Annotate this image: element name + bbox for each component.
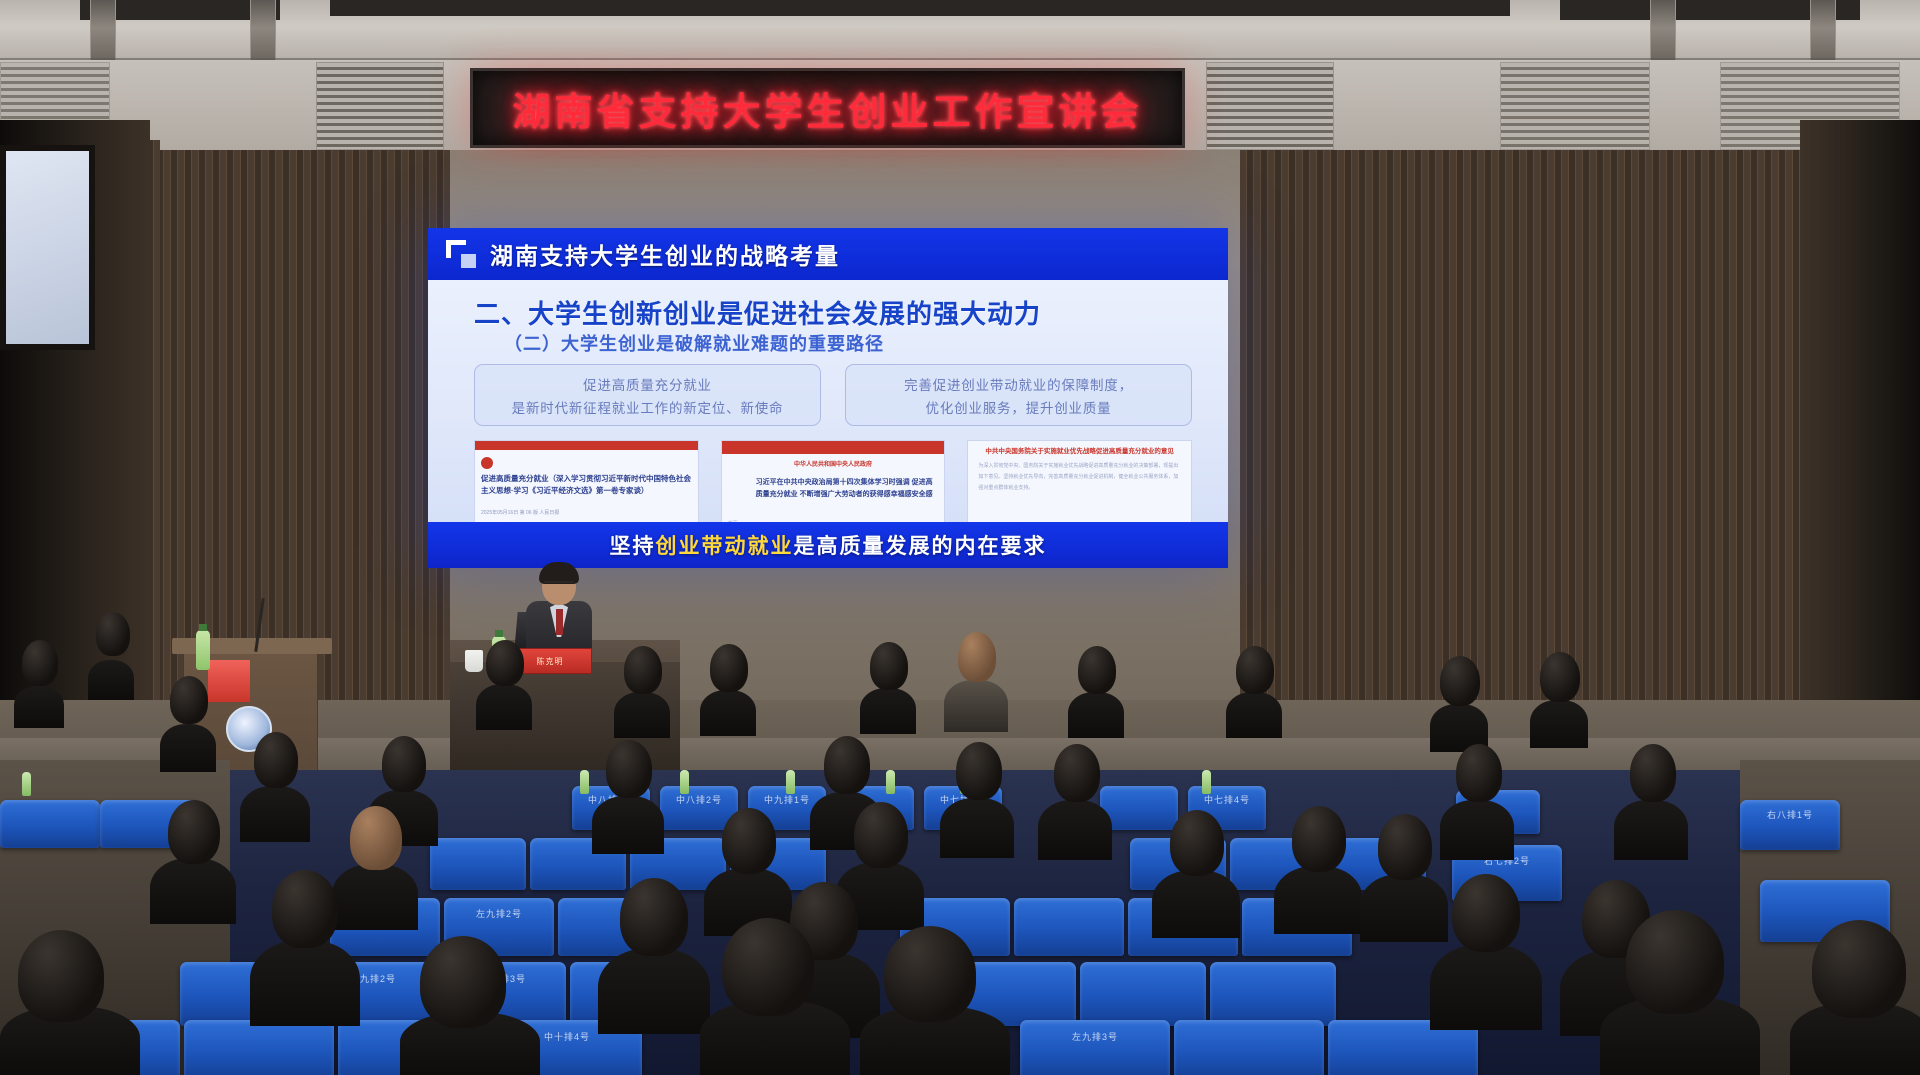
audience-member xyxy=(624,646,662,694)
seat[interactable]: 左九排3号 xyxy=(1020,1020,1170,1075)
info-box-right-line2: 优化创业服务，提升创业质量 xyxy=(926,397,1112,417)
side-wall-right xyxy=(1800,120,1920,760)
water-bottle-audience xyxy=(886,770,895,794)
slide-info-box-row: 促进高质量充分就业 是新时代新征程就业工作的新定位、新使命 完善促进创业带动就业… xyxy=(474,364,1192,426)
seat[interactable] xyxy=(1174,1020,1324,1075)
water-bottle-audience xyxy=(580,770,589,794)
seat[interactable] xyxy=(1080,962,1206,1026)
info-box-left-line1: 促进高质量充分就业 xyxy=(583,374,712,394)
footer-highlight: 创业带动就业 xyxy=(656,535,794,558)
acoustic-grille-left xyxy=(316,62,444,150)
audience-member xyxy=(884,926,976,1022)
audience-member xyxy=(1456,744,1502,802)
audience-member xyxy=(1360,874,1448,942)
audience-member xyxy=(598,948,710,1034)
audience-member xyxy=(1378,814,1432,880)
info-box-left: 促进高质量充分就业 是新时代新征程就业工作的新定位、新使命 xyxy=(474,364,821,426)
slide-footer-bar: 坚持创业带动就业是高质量发展的内在要求 xyxy=(428,522,1228,568)
audience-member xyxy=(1530,700,1588,748)
audience-member xyxy=(958,632,996,682)
audience-member xyxy=(854,802,908,868)
footer-suffix: 是高质量发展的内在要求 xyxy=(794,535,1047,558)
seat-label: 左九排3号 xyxy=(1020,1030,1170,1043)
audience-member xyxy=(1152,870,1240,938)
speaker-person xyxy=(526,565,592,657)
info-box-left-line2: 是新时代新征程就业工作的新定位、新使命 xyxy=(512,397,784,417)
ceiling-slot-1 xyxy=(90,0,116,62)
audience-member xyxy=(1540,652,1580,702)
glasses-icon xyxy=(544,581,574,588)
audience-member xyxy=(168,800,220,864)
water-bottle-audience xyxy=(786,770,795,794)
audience-member xyxy=(476,684,532,730)
audience-member xyxy=(382,736,426,792)
led-banner-text: 湖南省支持大学生创业工作宣讲会 xyxy=(512,81,1142,136)
audience-member xyxy=(614,692,670,738)
audience-member xyxy=(944,680,1008,732)
water-bottle-lectern xyxy=(196,630,210,670)
audience-member xyxy=(1440,800,1514,860)
audience-member xyxy=(1630,744,1676,802)
ceiling-slot-2 xyxy=(250,0,276,62)
document-gov-highlight: 习近平在中共中央政治局第十四次集体学习时强调 促进高质量充分就业 不断增强广大劳… xyxy=(756,477,939,501)
document-gov-bar xyxy=(722,441,945,454)
audience-member xyxy=(1068,692,1124,738)
audience-member xyxy=(350,806,402,870)
wall-display-panel xyxy=(0,145,95,350)
audience-member xyxy=(1274,866,1362,934)
seat-label: 左九排2号 xyxy=(444,907,554,920)
water-bottle-audience xyxy=(1202,770,1211,794)
audience-member xyxy=(254,732,298,788)
audience-member xyxy=(1614,800,1688,860)
seat-label: 中七排4号 xyxy=(1188,793,1266,806)
slide-header-title: 湖南支持大学生创业的战略考量 xyxy=(490,237,840,271)
slide-footer-text: 坚持创业带动就业是高质量发展的内在要求 xyxy=(610,530,1047,560)
acoustic-grille-right xyxy=(1206,62,1334,150)
led-banner: 湖南省支持大学生创业工作宣讲会 xyxy=(470,68,1185,148)
seat-label: 中八排2号 xyxy=(660,793,738,806)
audience-member xyxy=(700,690,756,736)
lectern-ribbon xyxy=(208,660,250,702)
audience-member xyxy=(150,858,236,924)
wood-slat-wall-right xyxy=(1240,150,1800,760)
footer-prefix: 坚持 xyxy=(610,535,656,558)
audience-member xyxy=(620,878,688,956)
slide-header-bar: 湖南支持大学生创业的战略考量 xyxy=(428,228,1228,280)
seat[interactable] xyxy=(1210,962,1336,1026)
seat[interactable] xyxy=(184,1020,334,1075)
audience-member xyxy=(240,786,310,842)
ceiling-slot-3 xyxy=(1650,0,1676,62)
info-box-right-line1: 完善促进创业带动就业的保障制度， xyxy=(904,374,1133,394)
water-bottle-audience xyxy=(22,772,31,796)
audience-member xyxy=(332,864,418,930)
audience-member xyxy=(870,642,908,690)
audience-member xyxy=(956,742,1002,800)
audience-member xyxy=(1452,874,1520,952)
audience-member xyxy=(1054,744,1100,802)
audience-member xyxy=(1292,806,1346,872)
seat[interactable] xyxy=(430,838,526,890)
audience-member xyxy=(722,808,776,874)
document-opinion-header: 中共中央国务院关于实施就业优先战略促进高质量充分就业的意见 xyxy=(968,445,1191,455)
speaker-nameplate-text: 陈克明 xyxy=(537,656,564,667)
water-bottle-audience xyxy=(680,770,689,794)
slide-body: 二、大学生创新创业是促进社会发展的强大动力 （二）大学生创业是破解就业难题的重要… xyxy=(428,280,1228,522)
audience-member xyxy=(160,724,216,772)
slide-heading-main: 二、大学生创新创业是促进社会发展的强大动力 xyxy=(474,294,1041,331)
presentation-slide: 湖南支持大学生创业的战略考量 二、大学生创新创业是促进社会发展的强大动力 （二）… xyxy=(428,228,1228,568)
document-meta-1: 2025年05月16日 第 06 版 人民日报 xyxy=(481,509,692,518)
bracket-square-icon xyxy=(446,240,476,268)
audience-member xyxy=(860,688,916,734)
audience-member xyxy=(824,736,870,794)
audience-member xyxy=(1626,910,1724,1014)
audience-member xyxy=(710,644,748,692)
audience-member xyxy=(722,918,814,1016)
seat[interactable] xyxy=(0,800,100,848)
info-box-right: 完善促进创业带动就业的保障制度， 优化创业服务，提升创业质量 xyxy=(845,364,1192,426)
audience-member xyxy=(22,640,58,686)
audience-member xyxy=(18,930,104,1022)
seat[interactable]: 右八排1号 xyxy=(1740,800,1840,850)
audience-member xyxy=(272,870,338,948)
audience-member xyxy=(486,640,524,686)
audience-member xyxy=(96,612,130,656)
seat[interactable] xyxy=(1014,898,1124,956)
audience-member xyxy=(606,740,652,798)
document-gov-banner: 中华人民共和国中央人民政府 xyxy=(722,459,945,468)
audience-member xyxy=(1430,944,1542,1030)
audience-member xyxy=(170,676,208,724)
ceiling-recess-mid xyxy=(330,0,1510,16)
audience-member xyxy=(420,936,506,1028)
slide-heading-sub: （二）大学生创业是破解就业难题的重要路径 xyxy=(504,330,884,356)
seat-label: 右八排1号 xyxy=(1740,808,1840,821)
audience-member xyxy=(592,796,664,854)
audience-member xyxy=(88,660,134,700)
audience-member xyxy=(1236,646,1274,694)
paper-cup xyxy=(465,650,483,672)
acoustic-grille-far-right xyxy=(1500,62,1650,150)
ceiling-slot-4 xyxy=(1810,0,1836,62)
audience-member xyxy=(14,686,64,728)
audience-member xyxy=(250,940,360,1026)
document-seal-icon xyxy=(481,457,493,469)
audience-member xyxy=(1170,810,1224,876)
audience-member xyxy=(1078,646,1116,694)
audience-member xyxy=(1440,656,1480,706)
document-title-1: 促进高质量充分就业（深入学习贯彻习近平新时代中国特色社会主义思想·学习《习近平经… xyxy=(481,473,692,496)
projection-screen: 湖南支持大学生创业的战略考量 二、大学生创新创业是促进社会发展的强大动力 （二）… xyxy=(428,228,1228,568)
audience-member xyxy=(1038,800,1112,860)
auditorium-scene: 湖南省支持大学生创业工作宣讲会 湖南支持大学生创业的战略考量 二、大学生创新创业… xyxy=(0,0,1920,1075)
audience-member xyxy=(1226,692,1282,738)
audience-member xyxy=(1812,920,1906,1018)
document-masthead-bar xyxy=(475,441,698,450)
audience-member xyxy=(940,798,1014,858)
